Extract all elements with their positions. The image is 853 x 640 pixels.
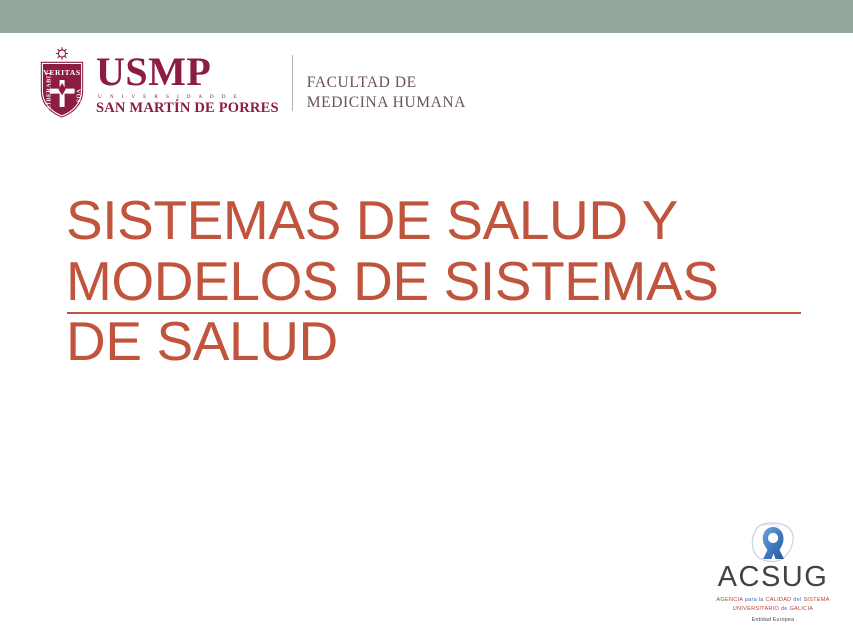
usmp-logo-lockup: VERITAS LIBERABIT VOS USMP U N I V E R S…: [34, 47, 466, 121]
top-accent-band: [0, 0, 853, 33]
slide-canvas: VERITAS LIBERABIT VOS USMP U N I V E R S…: [0, 0, 853, 640]
acsug-tagline-line-1: AGENCIA para la CALIDAD del SISTEMA: [698, 596, 848, 605]
svg-text:LIBERABIT: LIBERABIT: [46, 71, 53, 109]
svg-text:VOS: VOS: [74, 89, 81, 103]
acsug-tag-sistema: SISTEMA: [803, 597, 829, 603]
acsug-tagline: AGENCIA para la CALIDAD del SISTEMA UNIV…: [698, 596, 848, 613]
usmp-wordmark-group: USMP U N I V E R S I D A D D E SAN MARTÍ…: [96, 47, 279, 116]
usmp-wordmark: USMP: [96, 53, 279, 91]
usmp-university-name: SAN MARTÍN DE PORRES: [96, 101, 279, 116]
acsug-wordmark: ACSUG: [698, 563, 848, 592]
faculty-line-1: FACULTAD DE: [307, 73, 466, 93]
usmp-shield-icon: VERITAS LIBERABIT VOS: [34, 47, 90, 121]
acsug-tag-del: del: [793, 597, 801, 603]
faculty-name: FACULTAD DE MEDICINA HUMANA: [307, 47, 466, 114]
acsug-tag-agencia: AGENCIA: [716, 597, 743, 603]
slide-title: SISTEMAS DE SALUD Y MODELOS DE SISTEMAS …: [66, 190, 786, 372]
title-underline-rule: [67, 312, 801, 314]
acsug-tagline-line-2: UNIVERSITARIO de GALICIA: [698, 605, 848, 614]
logo-divider: [292, 55, 293, 111]
acsug-tag-de: de: [781, 606, 788, 612]
acsug-tag-galicia: GALICIA: [789, 606, 813, 612]
faculty-line-2: MEDICINA HUMANA: [307, 93, 466, 113]
acsug-logo: ACSUG AGENCIA para la CALIDAD del SISTEM…: [698, 521, 848, 623]
acsug-tag-calidad: CALIDAD: [765, 597, 791, 603]
acsug-emblem-icon: [698, 521, 848, 565]
acsug-tag-parala: para la: [745, 597, 764, 603]
acsug-subtitle: Entidad Europea: [698, 617, 848, 623]
acsug-tag-universitario: UNIVERSITARIO: [733, 606, 779, 612]
